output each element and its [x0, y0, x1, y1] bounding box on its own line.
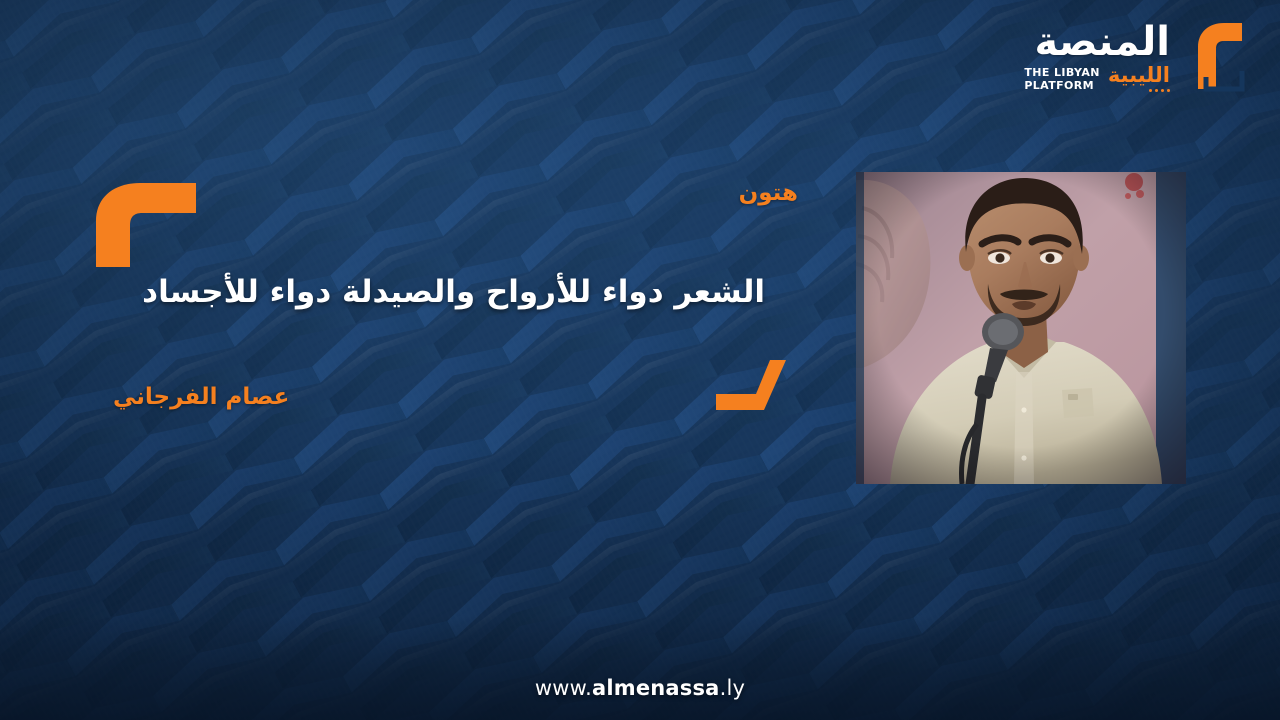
- speaker-portrait: [856, 172, 1186, 484]
- brand-name-english-line2: PLATFORM: [1024, 80, 1100, 93]
- quote-card: المنصة THE LIBYAN PLATFORM الليبية: [0, 0, 1280, 720]
- brand-name-english: THE LIBYAN PLATFORM: [1024, 65, 1100, 93]
- brand-dot: [1155, 89, 1158, 92]
- brand-name-english-line1: THE LIBYAN: [1024, 67, 1100, 80]
- brand-dot: [1161, 89, 1164, 92]
- brand-logo-wordmark: المنصة THE LIBYAN PLATFORM الليبية: [1024, 22, 1170, 93]
- url-prefix: www.: [535, 676, 592, 700]
- brand-dot: [1149, 89, 1152, 92]
- brand-name-arabic: المنصة: [1034, 22, 1170, 62]
- brand-logo[interactable]: المنصة THE LIBYAN PLATFORM الليبية: [1024, 18, 1246, 96]
- quote-open-icon: [92, 181, 198, 269]
- program-name: هتون: [739, 180, 798, 206]
- url-tld: .ly: [720, 676, 746, 700]
- speaker-name: عصام الفرجاني: [113, 384, 289, 410]
- brand-sub-row: THE LIBYAN PLATFORM الليبية: [1024, 65, 1170, 93]
- url-name: almenassa: [592, 676, 720, 700]
- brand-sub-arabic-group: الليبية: [1108, 65, 1170, 92]
- orange-bracket-logo-icon: [1180, 21, 1246, 93]
- brand-dot: [1167, 89, 1170, 92]
- quote-headline: الشعر دواء للأرواح والصيدلة دواء للأجساد: [125, 272, 765, 314]
- quote-close-icon: [712, 358, 790, 414]
- brand-dots-decoration: [1108, 89, 1170, 92]
- brand-name-arabic-sub: الليبية: [1108, 65, 1170, 86]
- website-url[interactable]: www.almenassa.ly: [0, 676, 1280, 700]
